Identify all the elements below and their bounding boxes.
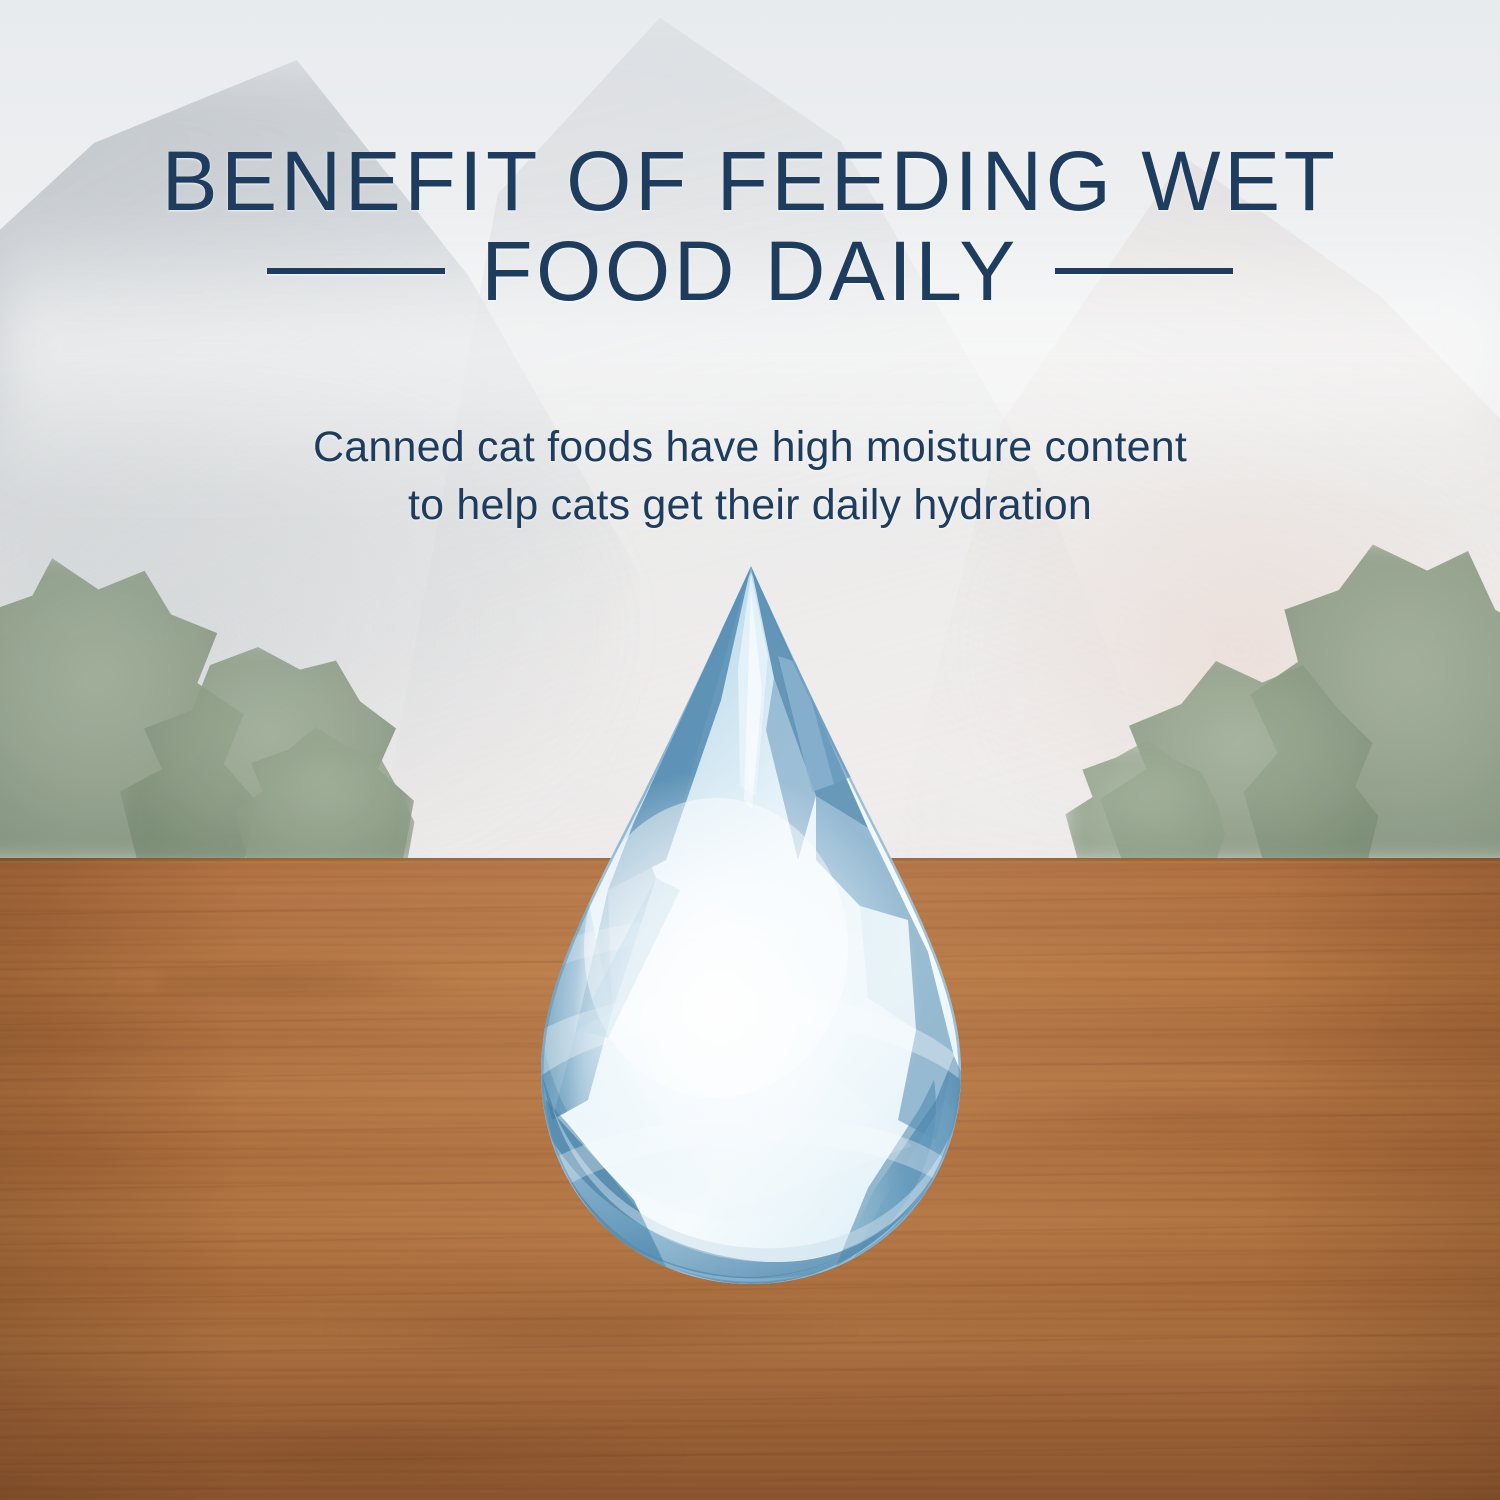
promo-banner: BENEFIT OF FEEDING WET FOOD DAILY Canned… xyxy=(0,0,1500,1500)
water-droplet-icon xyxy=(516,560,986,1305)
title-rule-left xyxy=(267,268,445,274)
page-subtitle: Canned cat foods have high moisture cont… xyxy=(0,418,1500,534)
title-second-line-group: FOOD DAILY xyxy=(0,228,1500,314)
title-rule-right xyxy=(1055,268,1233,274)
page-title-line2: FOOD DAILY xyxy=(481,228,1019,314)
page-title: BENEFIT OF FEEDING WET xyxy=(0,138,1500,224)
